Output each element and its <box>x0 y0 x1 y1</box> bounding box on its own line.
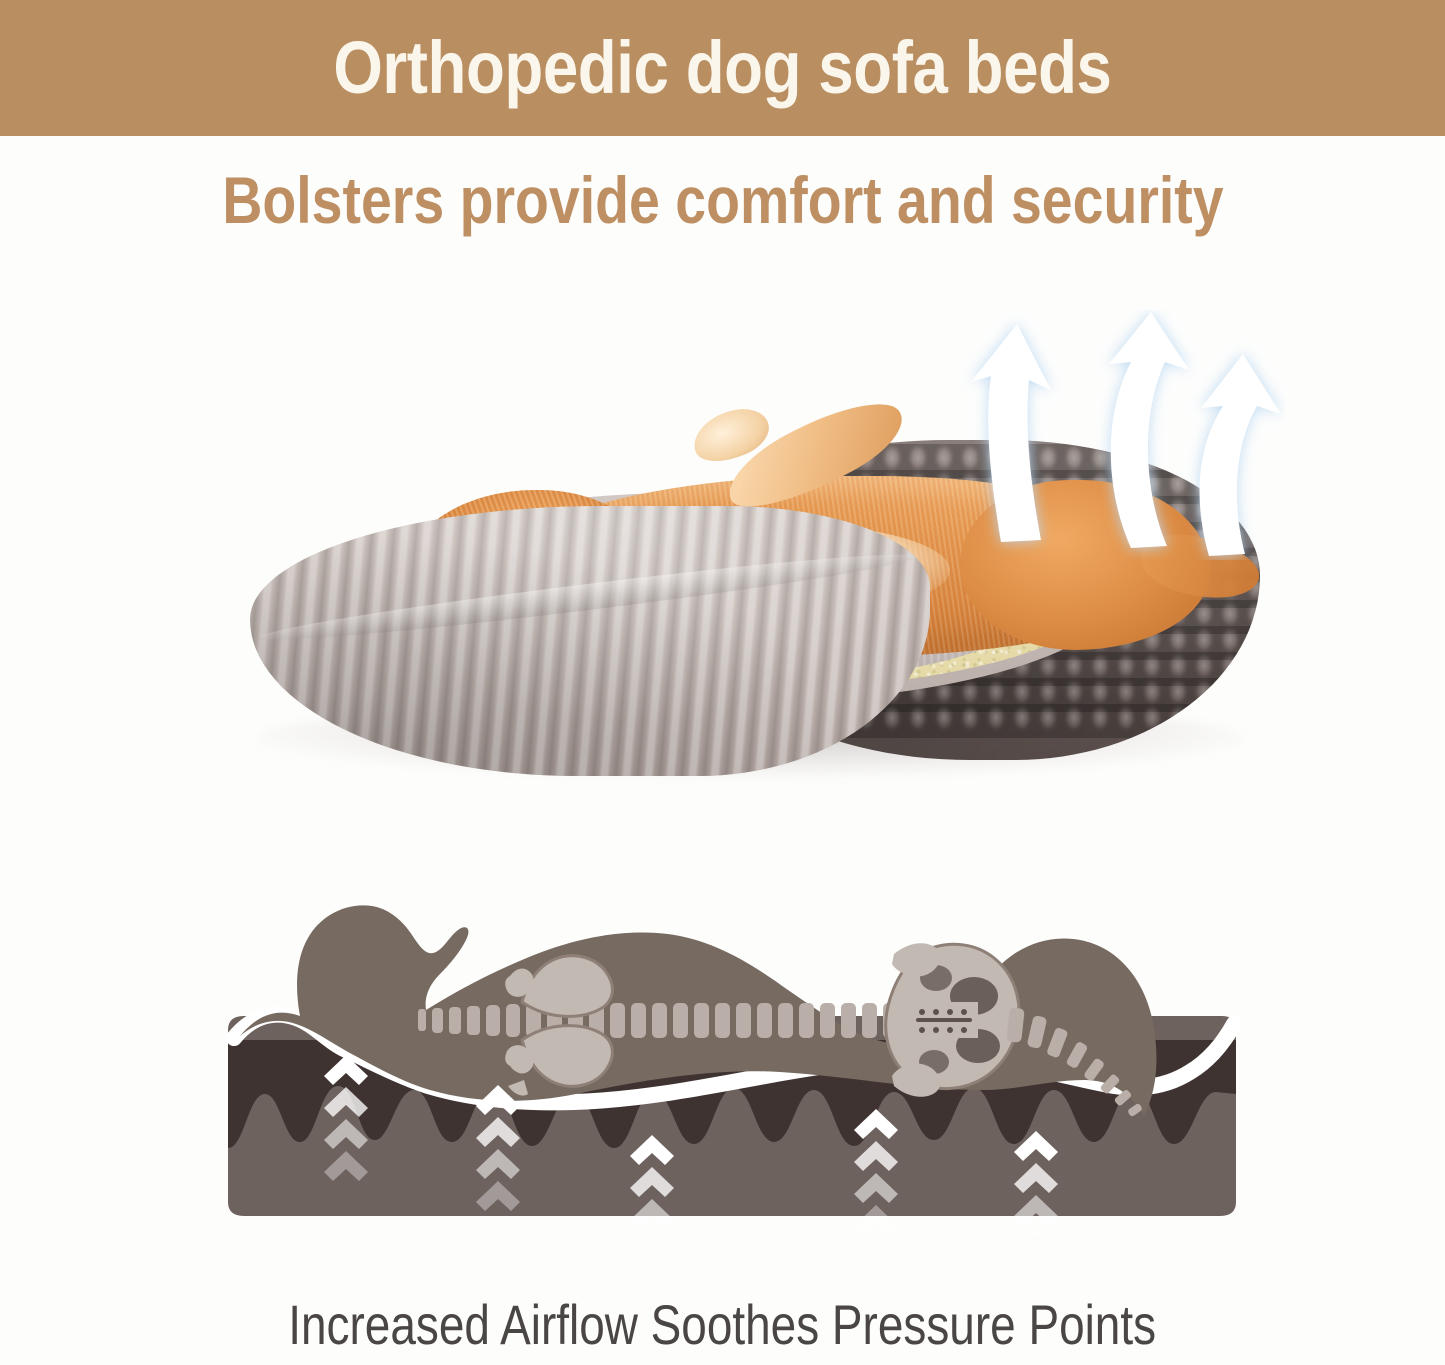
airflow-arrow-3 <box>1200 354 1281 556</box>
chevron-group-3 <box>630 1135 674 1235</box>
subtitle-text: Bolsters provide comfort and security <box>222 167 1223 233</box>
airflow-arrow-1 <box>971 324 1051 542</box>
header-banner: Orthopedic dog sofa beds <box>0 0 1445 136</box>
page-title: Orthopedic dog sofa beds <box>333 31 1111 105</box>
caption-text: Increased Airflow Soothes Pressure Point… <box>289 1297 1157 1353</box>
airflow-arrows <box>955 310 1285 560</box>
pressure-point-diagram <box>222 890 1242 1235</box>
subtitle-row: Bolsters provide comfort and security <box>0 152 1445 248</box>
product-photo <box>195 300 1285 800</box>
product-infographic: Orthopedic dog sofa beds Bolsters provid… <box>0 0 1445 1365</box>
corduroy-rib-texture <box>250 506 930 776</box>
airflow-arrow-2 <box>1109 312 1189 548</box>
caption-row: Increased Airflow Soothes Pressure Point… <box>0 1286 1445 1364</box>
